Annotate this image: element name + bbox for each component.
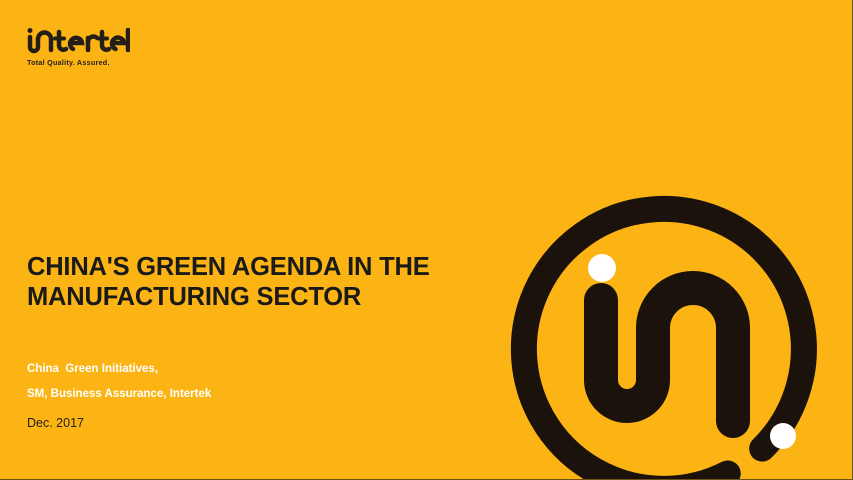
logo-tagline: Total Quality. Assured. — [27, 58, 176, 67]
intertek-in-monogram-circle-icon — [470, 168, 853, 480]
subtitle-line-1: China Green Initiatives, — [27, 357, 467, 382]
slide-subtitle: China Green Initiatives, SM, Business As… — [27, 357, 467, 407]
page-title: CHINA'S GREEN AGENDA IN THE MANUFACTURIN… — [27, 252, 467, 312]
subtitle-line-2: SM, Business Assurance, Intertek — [27, 382, 467, 407]
intertek-wordmark-icon — [26, 27, 130, 54]
intertek-logo: Total Quality. Assured. — [26, 27, 176, 67]
slide-title-text: CHINA'S GREEN AGENDA IN THE MANUFACTURIN… — [27, 252, 467, 312]
title-slide: Total Quality. Assured. CHINA'S GREEN AG… — [0, 0, 853, 480]
slide-date: Dec. 2017 — [27, 416, 84, 430]
date-text: Dec. 2017 — [27, 416, 84, 430]
